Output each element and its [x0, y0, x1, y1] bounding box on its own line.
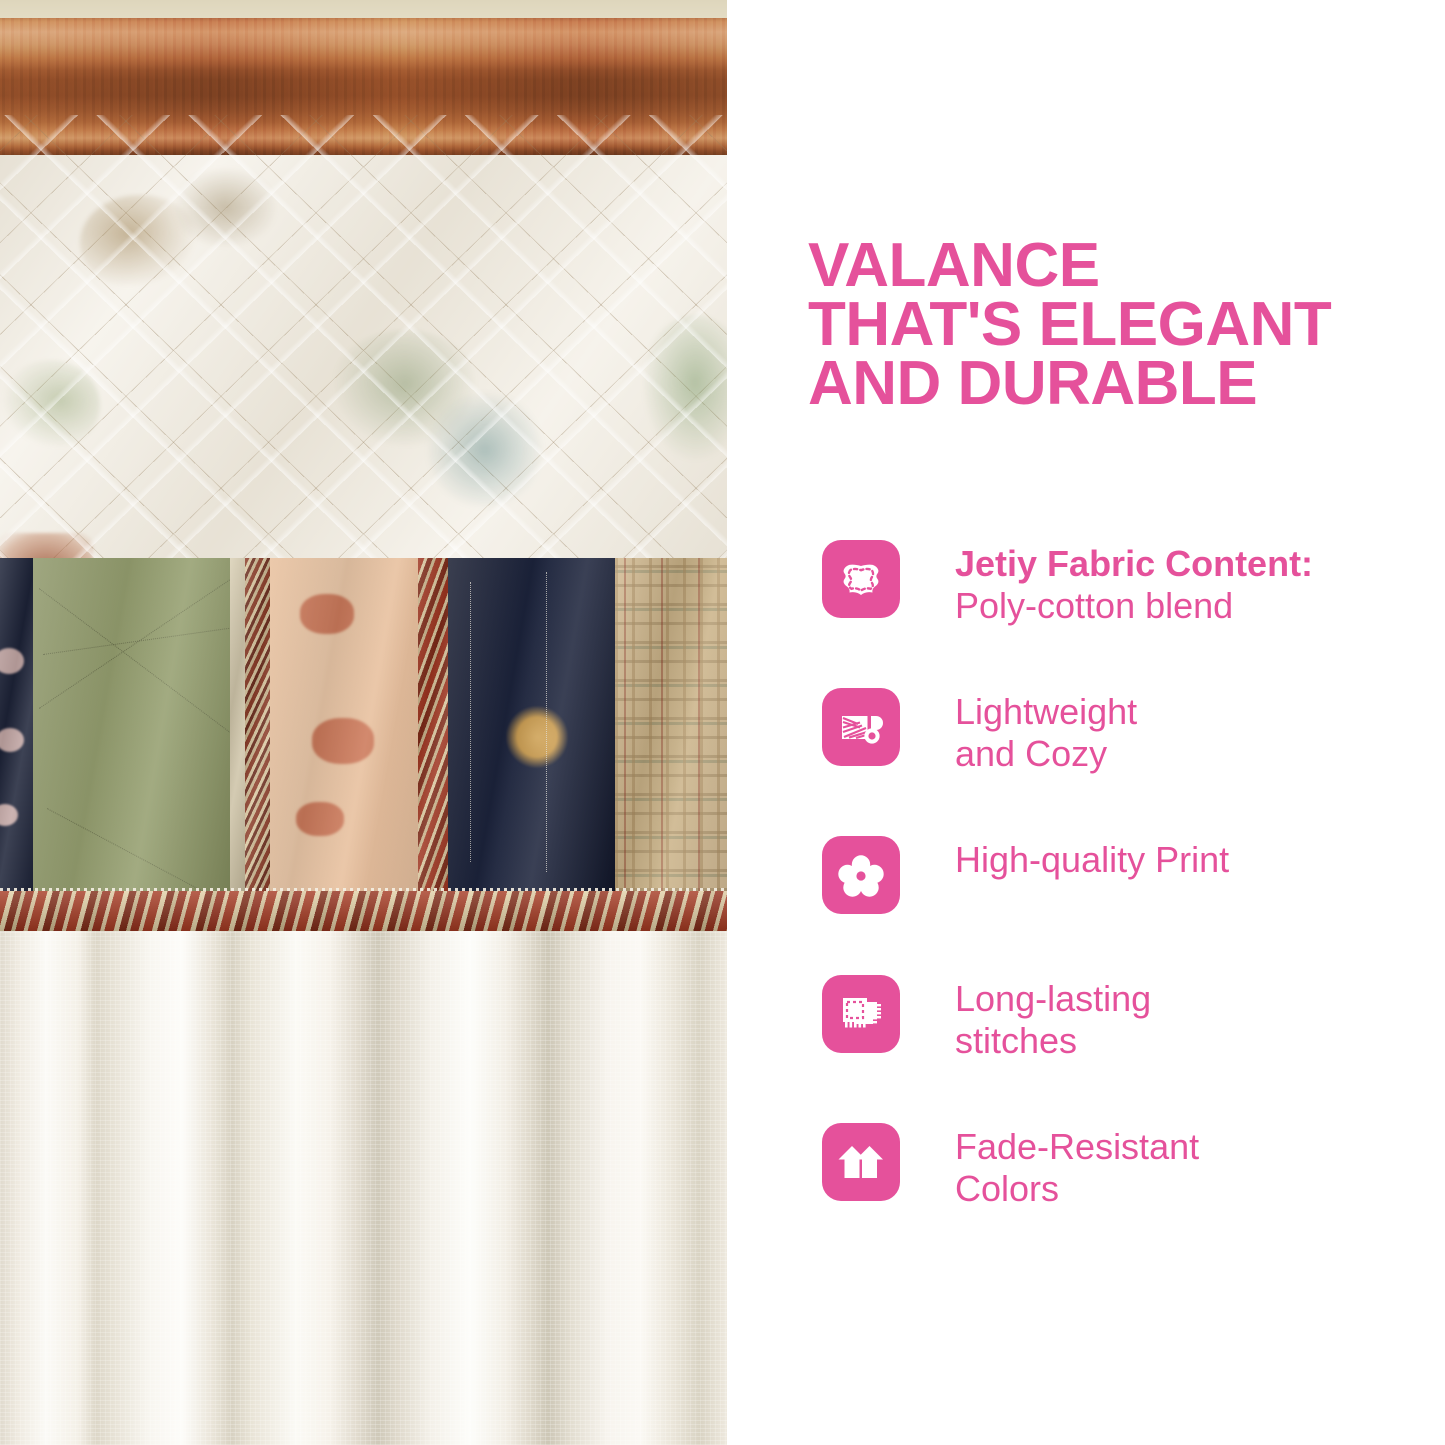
rust-floral-binding [0, 891, 727, 931]
fabric-roll-icon [822, 688, 900, 766]
floral-motif [300, 594, 354, 634]
fabric-stack-icon [822, 975, 900, 1053]
feature-body: Poly-cotton blend [955, 585, 1233, 626]
feature-text: Jetiy Fabric Content: Poly-cotton blend [955, 540, 1313, 627]
floral-motif [640, 315, 727, 465]
quilted-valance-top [0, 155, 727, 558]
feature-body-line2: Colors [955, 1168, 1059, 1209]
headline-line-1: VALANCE [808, 236, 1408, 295]
feature-body: High-quality Print [955, 839, 1229, 880]
gold-leaf-motif [506, 706, 568, 768]
quilt-stitch [39, 563, 255, 709]
feature-body-line2: and Cozy [955, 733, 1107, 774]
patch-tan-plaid [615, 558, 727, 891]
quilt-stitch [470, 582, 471, 862]
floral-motif [330, 330, 480, 450]
feature-body-line1: Lightweight [955, 691, 1137, 732]
page-title: VALANCE THAT'S ELEGANT AND DURABLE [808, 236, 1408, 413]
feature-title: Jetiy Fabric Content: [955, 543, 1313, 585]
floral-motif [296, 802, 344, 836]
feature-text: Lightweight and Cozy [955, 688, 1137, 775]
leather-hide-icon [822, 540, 900, 618]
quilt-stitch [39, 588, 247, 745]
floral-motif [312, 718, 374, 764]
patch-navy-floral [0, 558, 33, 891]
feature-list: Jetiy Fabric Content: Poly-cotton blend [822, 540, 1422, 1210]
double-up-arrow-icon [822, 1123, 900, 1201]
floral-motif [0, 360, 100, 450]
patch-navy-gold-leaf [448, 558, 615, 891]
patch-rust-burgundy [418, 558, 448, 891]
feature-body-line1: Long-lasting [955, 978, 1151, 1019]
feature-item-lightweight: Lightweight and Cozy [822, 688, 1422, 775]
product-photo [0, 0, 727, 1445]
feature-text: Long-lasting stitches [955, 975, 1151, 1062]
headline-line-2: THAT'S ELEGANT [808, 295, 1408, 354]
patchwork-strip-band [0, 558, 727, 891]
quilt-stitch [546, 572, 547, 872]
patch-peach-floral [270, 558, 418, 891]
wall-strip [0, 0, 727, 18]
feature-panel: VALANCE THAT'S ELEGANT AND DURABLE Jetiy… [727, 0, 1445, 1445]
feature-text: Fade-Resistant Colors [955, 1123, 1199, 1210]
patch-cream [230, 558, 245, 891]
floral-motif [0, 728, 24, 752]
patch-sage-green [33, 558, 230, 891]
patch-rust-speckle [245, 558, 270, 891]
feature-body-line1: Fade-Resistant [955, 1126, 1199, 1167]
feature-item-fabric-content: Jetiy Fabric Content: Poly-cotton blend [822, 540, 1422, 627]
flower-icon [822, 836, 900, 914]
floral-motif [80, 195, 200, 290]
headline-line-3: AND DURABLE [808, 354, 1408, 413]
sheer-pleated-curtain [0, 931, 727, 1445]
product-feature-card: VALANCE THAT'S ELEGANT AND DURABLE Jetiy… [0, 0, 1445, 1445]
floral-motif [0, 648, 24, 674]
feature-item-fade-resistant: Fade-Resistant Colors [822, 1123, 1422, 1210]
feature-text: High-quality Print [955, 836, 1229, 881]
feature-body-line2: stitches [955, 1020, 1077, 1061]
floral-motif [420, 385, 550, 515]
feature-item-print: High-quality Print [822, 836, 1422, 914]
feature-item-stitches: Long-lasting stitches [822, 975, 1422, 1062]
floral-motif [0, 804, 18, 826]
floral-motif [170, 165, 280, 250]
